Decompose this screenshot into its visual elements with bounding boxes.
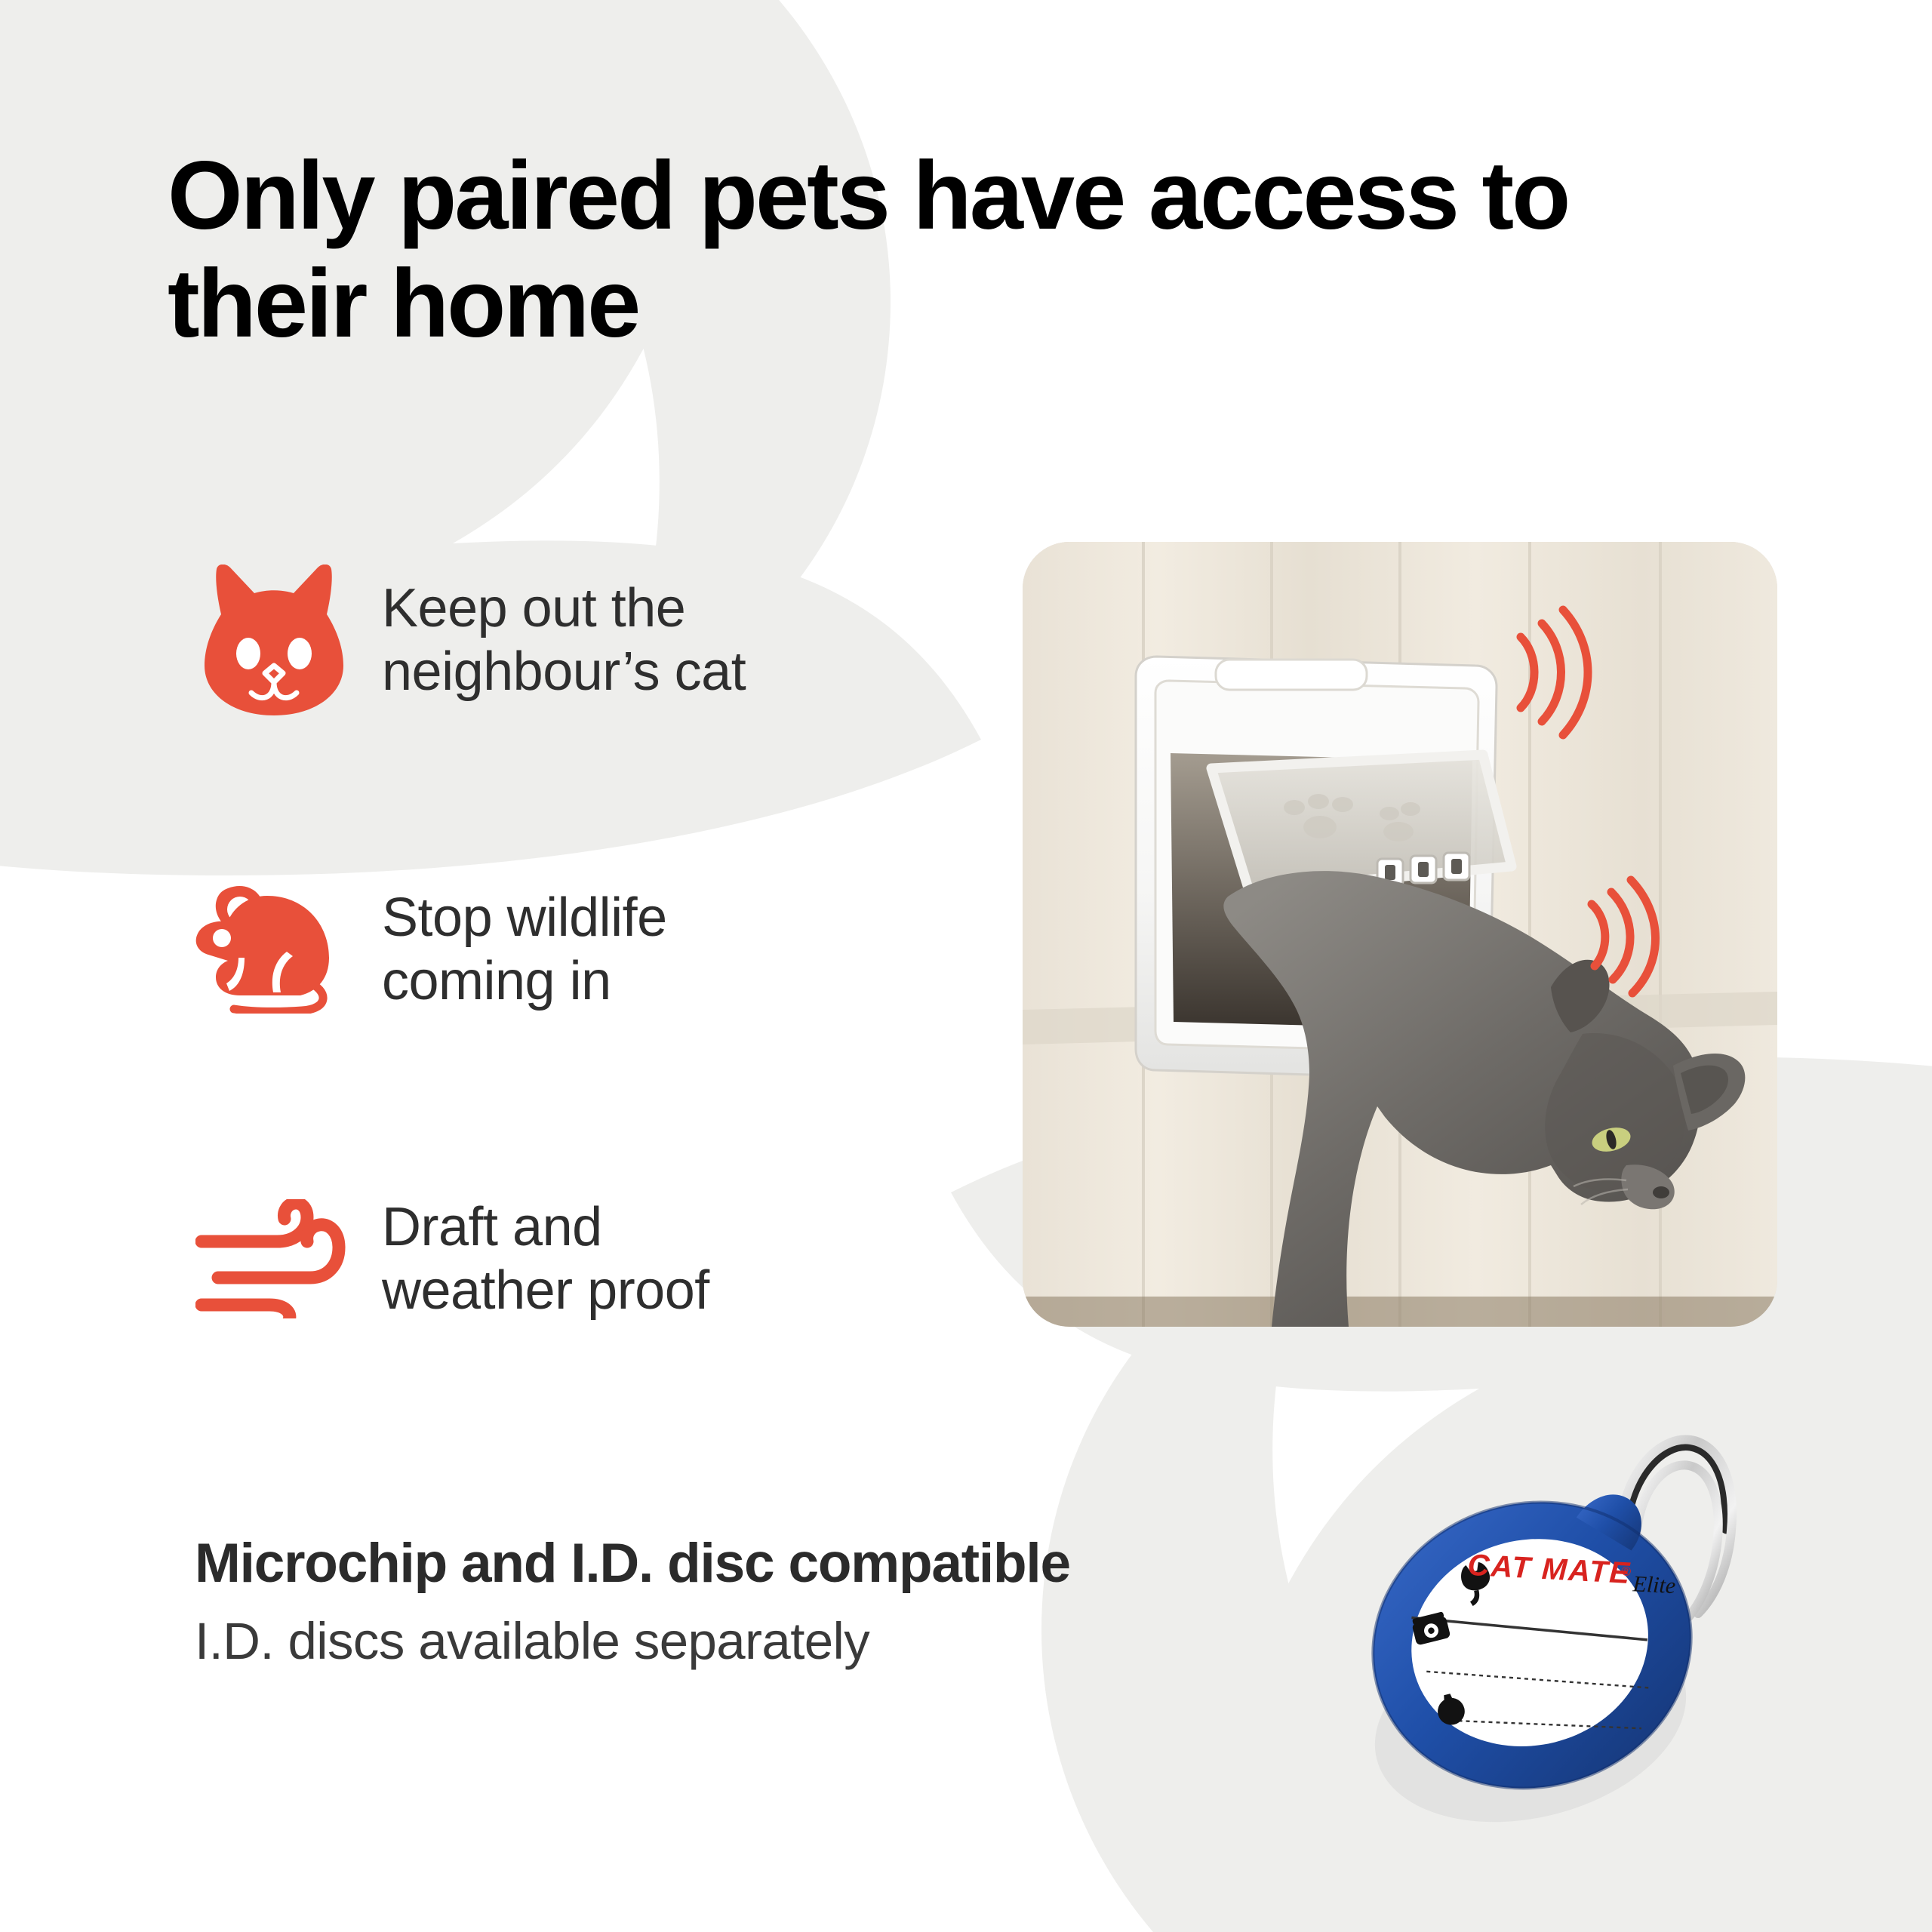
wind-line-bottom bbox=[202, 1305, 290, 1318]
floor-shadow bbox=[1023, 1297, 1777, 1327]
range-text: Elite bbox=[1632, 1571, 1676, 1598]
feature-item-keep-out-cat: Keep out the neighbour’s cat bbox=[195, 542, 980, 738]
mouse-icon bbox=[195, 870, 353, 1029]
id-disc-image: CAT MATE ® Elite bbox=[1328, 1419, 1766, 1841]
feature-label: Stop wildlife coming in bbox=[382, 886, 667, 1013]
feature-item-draft-proof: Draft and weather proof bbox=[195, 1161, 980, 1357]
cat-face-icon bbox=[195, 561, 353, 719]
feature-label: Keep out the neighbour’s cat bbox=[382, 577, 746, 703]
wind-line-top bbox=[202, 1203, 307, 1241]
registered-mark: ® bbox=[1621, 1564, 1632, 1579]
clear-flap bbox=[1211, 755, 1512, 891]
microchip-subtitle: I.D. discs available separately bbox=[195, 1611, 1327, 1673]
wind-line-middle bbox=[218, 1225, 339, 1278]
promo-graphic: Only paired pets have access to their ho… bbox=[0, 0, 1932, 1932]
product-photo bbox=[1023, 542, 1777, 1327]
page-title: Only paired pets have access to their ho… bbox=[168, 142, 1737, 358]
cat-flap-handle bbox=[1216, 660, 1367, 690]
feature-label: Draft and weather proof bbox=[382, 1195, 709, 1322]
product-photo-image bbox=[1023, 542, 1777, 1327]
microchip-title: Microchip and I.D. disc compatible bbox=[195, 1531, 1327, 1597]
feature-item-stop-wildlife: Stop wildlife coming in bbox=[195, 851, 980, 1048]
cat-eye-left bbox=[236, 638, 260, 669]
feature-list: Keep out the neighbour’s cat bbox=[195, 542, 980, 1357]
wind-icon bbox=[195, 1180, 353, 1338]
cat-nose bbox=[1653, 1186, 1669, 1198]
cat-eye-right bbox=[288, 638, 312, 669]
microchip-copy-block: Microchip and I.D. disc compatible I.D. … bbox=[195, 1531, 1327, 1672]
